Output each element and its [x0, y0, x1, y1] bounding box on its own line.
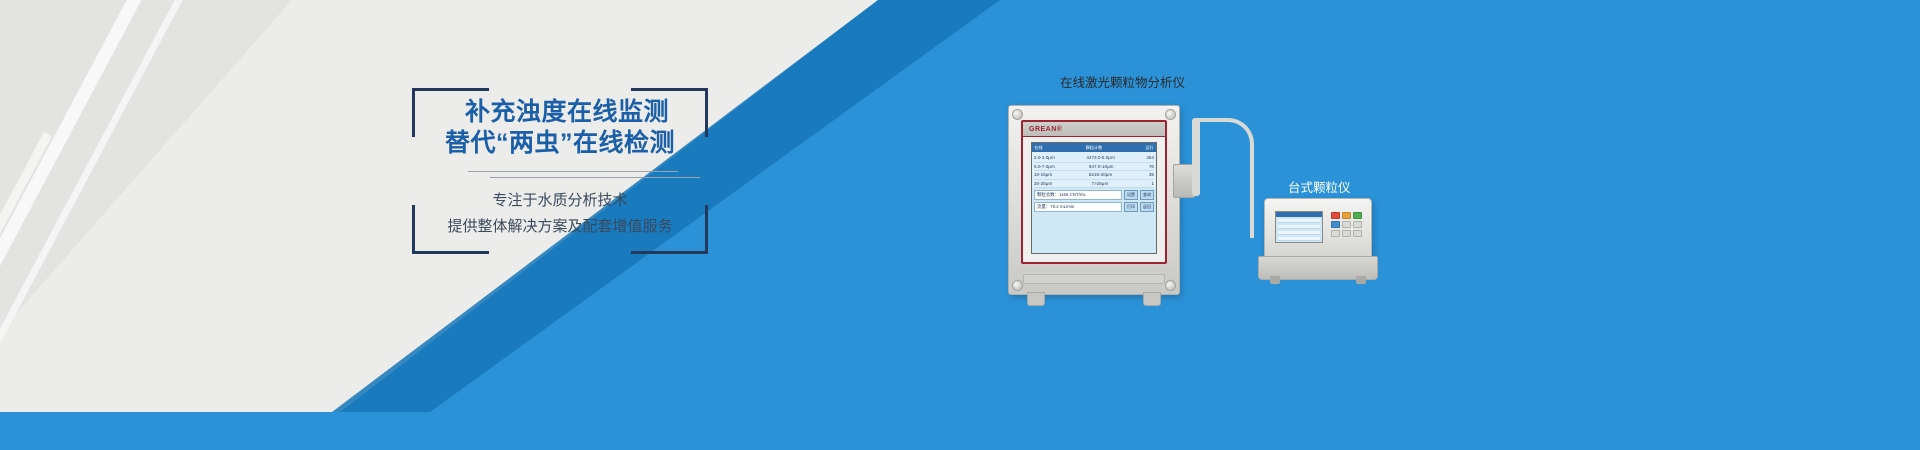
bench-display[interactable] [1275, 211, 1323, 243]
analyzer-enclosure: GREAN® 在线 颗粒计数 运行 2.0-3.0μm 447 3.0-5.0μ… [1008, 105, 1180, 295]
display-status-left: 在线 [1034, 145, 1042, 151]
bench-foot [1270, 276, 1280, 284]
connection-tube [1196, 118, 1254, 238]
subtitle: 专注于水质分析技术 提供整体解决方案及配套增值服务 [412, 188, 708, 240]
range-a: 20-25μm [1034, 180, 1078, 188]
count-b: 1 [1138, 180, 1154, 188]
bench-foot [1356, 276, 1366, 284]
display-button[interactable]: 打印 [1124, 202, 1138, 212]
analyzer-foot [1027, 292, 1045, 306]
table-row: 2.0-3.0μm 447 3.0-5.0μm 454 [1034, 154, 1154, 163]
analyzer-label: 在线激光颗粒物分析仪 [1060, 72, 1185, 91]
analyzer-bottom-strip [1023, 274, 1165, 284]
count-a: 94 [1078, 163, 1094, 171]
analyzer-foot [1143, 292, 1161, 306]
keypad-key[interactable] [1331, 212, 1340, 219]
display-footer: 颗粒总数：1166 CNT/mL 设置 查询 流量：78.2 mL/min 打印… [1034, 190, 1154, 212]
keypad-key[interactable] [1331, 221, 1340, 228]
subtitle-line-1: 专注于水质分析技术 [412, 188, 708, 214]
count-a: 52 [1078, 171, 1094, 179]
count-a: 447 [1078, 154, 1094, 162]
display-button[interactable]: 设置 [1124, 190, 1138, 200]
table-row: 5.0-7.0μm 94 7.0-10μm 76 [1034, 163, 1154, 172]
count-b: 35 [1138, 171, 1154, 179]
subtitle-line-2: 提供整体解决方案及配套增值服务 [412, 214, 708, 240]
promo-banner: 补充浊度在线监测 替代“两虫”在线检测 专注于水质分析技术 提供整体解决方案及配… [0, 0, 1920, 450]
headline-block: 补充浊度在线监测 替代“两虫”在线检测 专注于水质分析技术 提供整体解决方案及配… [412, 88, 708, 254]
count-b: 76 [1138, 163, 1154, 171]
range-b: 3.0-5.0μm [1094, 154, 1138, 162]
bench-display-row [1278, 231, 1320, 236]
table-row: 20-25μm 7 >25μm 1 [1034, 180, 1154, 189]
flow-value: 流量：78.2 mL/min [1034, 202, 1122, 212]
range-a: 10-15μm [1034, 171, 1078, 179]
display-button[interactable]: 查询 [1140, 190, 1154, 200]
total-count-field-row: 颗粒总数：1166 CNT/mL 设置 查询 [1034, 190, 1154, 200]
keypad-key[interactable] [1353, 221, 1362, 228]
keypad-key[interactable] [1353, 230, 1362, 237]
brand-logo: GREAN® [1023, 126, 1062, 133]
bench-display-title-bar [1276, 212, 1322, 217]
bench-top-housing [1264, 198, 1372, 262]
headline-divider-lower [490, 177, 700, 178]
range-b: 7.0-10μm [1094, 163, 1138, 171]
analyzer-brand-bar: GREAN® [1023, 122, 1165, 137]
bench-keypad[interactable] [1331, 212, 1362, 237]
range-a: 2.0-3.0μm [1034, 154, 1078, 162]
total-count-value: 颗粒总数：1166 CNT/mL [1034, 190, 1122, 200]
headline: 补充浊度在线监测 替代“两虫”在线检测 [412, 97, 708, 159]
range-a: 5.0-7.0μm [1034, 163, 1078, 171]
enclosure-screw [1012, 109, 1023, 120]
keypad-key[interactable] [1353, 212, 1362, 219]
benchtop-particle-counter [1258, 198, 1378, 294]
keypad-key[interactable] [1331, 230, 1340, 237]
bench-label: 台式颗粒仪 [1288, 177, 1351, 196]
enclosure-screw [1012, 280, 1023, 291]
bottom-blue-bar [0, 412, 1920, 450]
keypad-key[interactable] [1342, 212, 1351, 219]
headline-line-1: 补充浊度在线监测 [412, 97, 708, 128]
count-a: 7 [1078, 180, 1094, 188]
display-status-right: 运行 [1145, 145, 1153, 151]
keypad-key[interactable] [1342, 230, 1351, 237]
keypad-key[interactable] [1342, 221, 1351, 228]
headline-line-2: 替代“两虫”在线检测 [412, 128, 708, 159]
range-b: >25μm [1094, 180, 1138, 188]
display-title-bar: 在线 颗粒计数 运行 [1032, 143, 1156, 152]
enclosure-screw [1165, 280, 1176, 291]
range-b: 15-20μm [1094, 171, 1138, 179]
enclosure-screw [1165, 109, 1176, 120]
analyzer-front-panel: GREAN® 在线 颗粒计数 运行 2.0-3.0μm 447 3.0-5.0μ… [1021, 120, 1167, 264]
bench-display-row [1278, 225, 1320, 230]
table-row: 10-15μm 52 15-20μm 35 [1034, 171, 1154, 180]
count-b: 454 [1138, 154, 1154, 162]
headline-divider-upper [468, 171, 678, 172]
display-button[interactable]: 返回 [1140, 202, 1154, 212]
particle-count-table: 2.0-3.0μm 447 3.0-5.0μm 454 5.0-7.0μm 94… [1032, 152, 1156, 188]
display-title: 颗粒计数 [1086, 145, 1103, 151]
analyzer-display[interactable]: 在线 颗粒计数 运行 2.0-3.0μm 447 3.0-5.0μm 454 5… [1031, 142, 1157, 254]
bench-display-row [1278, 237, 1320, 242]
online-laser-particle-analyzer: GREAN® 在线 颗粒计数 运行 2.0-3.0μm 447 3.0-5.0μ… [1008, 105, 1180, 295]
flow-field-row: 流量：78.2 mL/min 打印 返回 [1034, 202, 1154, 212]
bench-display-row [1278, 219, 1320, 224]
